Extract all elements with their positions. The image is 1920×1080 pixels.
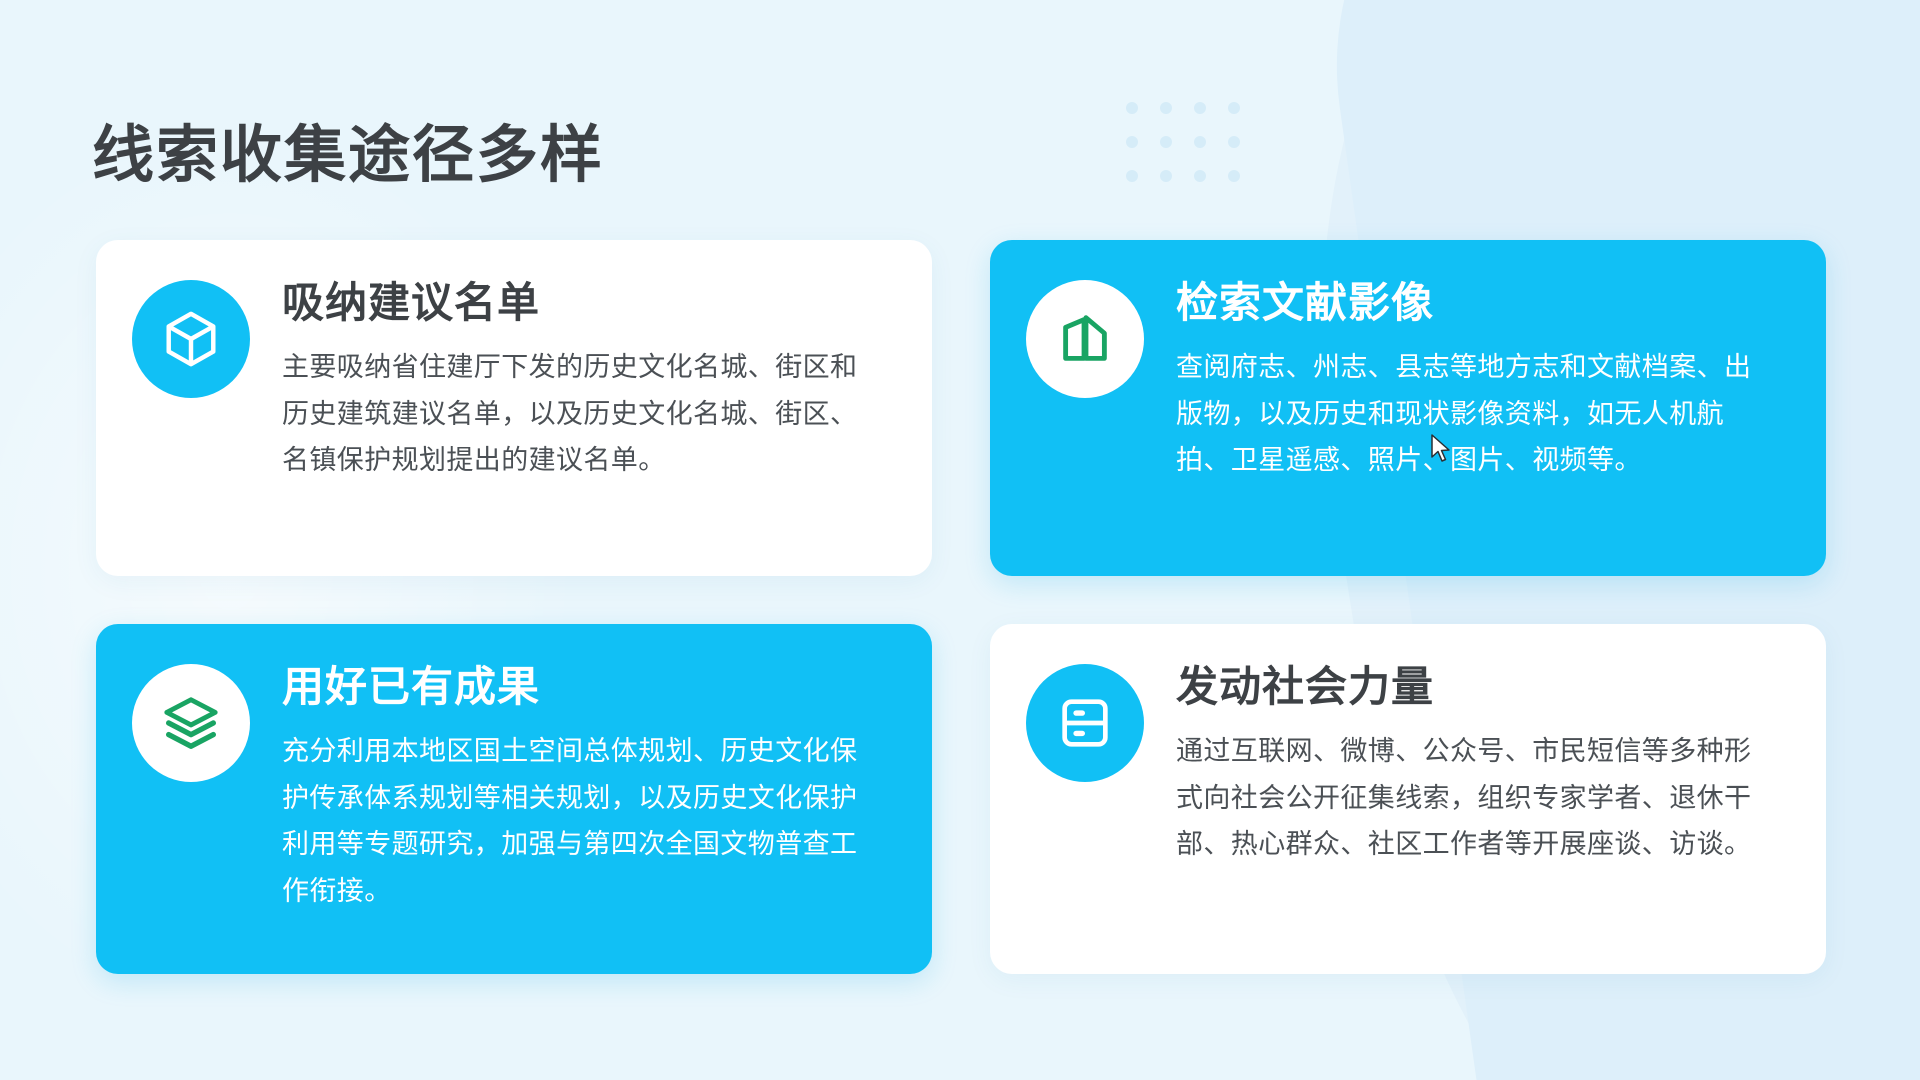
dot <box>1126 170 1138 182</box>
card-body: 充分利用本地区国土空间总体规划、历史文化保护传承体系规划等相关规划，以及历史文化… <box>282 728 882 914</box>
dot <box>1160 170 1172 182</box>
card-title: 吸纳建议名单 <box>282 280 882 326</box>
card-absorb-recommended-list[interactable]: 吸纳建议名单 主要吸纳省住建厅下发的历史文化名城、街区和历史建筑建议名单，以及历… <box>96 240 932 576</box>
dot <box>1160 136 1172 148</box>
page-title: 线索收集途径多样 <box>92 120 604 191</box>
dot <box>1228 136 1240 148</box>
cube-icon <box>132 280 250 398</box>
server-icon <box>1026 664 1144 782</box>
card-search-literature-imagery[interactable]: 检索文献影像 查阅府志、州志、县志等地方志和文献档案、出版物，以及历史和现状影像… <box>990 240 1826 576</box>
card-mobilize-social-forces[interactable]: 发动社会力量 通过互联网、微博、公众号、市民短信等多种形式向社会公开征集线索，组… <box>990 624 1826 974</box>
card-title: 检索文献影像 <box>1176 280 1776 326</box>
card-body: 通过互联网、微博、公众号、市民短信等多种形式向社会公开征集线索，组织专家学者、退… <box>1176 728 1776 867</box>
dot <box>1126 102 1138 114</box>
card-body: 主要吸纳省住建厅下发的历史文化名城、街区和历史建筑建议名单，以及历史文化名城、街… <box>282 344 882 483</box>
dot <box>1194 136 1206 148</box>
card-grid: 吸纳建议名单 主要吸纳省住建厅下发的历史文化名城、街区和历史建筑建议名单，以及历… <box>96 240 1836 974</box>
card-text: 吸纳建议名单 主要吸纳省住建厅下发的历史文化名城、街区和历史建筑建议名单，以及历… <box>282 276 882 484</box>
dot <box>1194 102 1206 114</box>
card-text: 检索文献影像 查阅府志、州志、县志等地方志和文献档案、出版物，以及历史和现状影像… <box>1176 276 1776 484</box>
card-text: 用好已有成果 充分利用本地区国土空间总体规划、历史文化保护传承体系规划等相关规划… <box>282 660 882 914</box>
dot <box>1194 170 1206 182</box>
card-use-existing-results[interactable]: 用好已有成果 充分利用本地区国土空间总体规划、历史文化保护传承体系规划等相关规划… <box>96 624 932 974</box>
dot <box>1160 102 1172 114</box>
slide-canvas: 线索收集途径多样 吸纳建议名单 主要吸纳省住建厅下发的历史文化名城、街区和历史建… <box>0 0 1920 1080</box>
card-text: 发动社会力量 通过互联网、微博、公众号、市民短信等多种形式向社会公开征集线索，组… <box>1176 660 1776 868</box>
layers-icon <box>132 664 250 782</box>
dot <box>1126 136 1138 148</box>
dot-grid-decoration <box>1126 102 1240 182</box>
card-title: 发动社会力量 <box>1176 664 1776 710</box>
buildings-icon <box>1026 280 1144 398</box>
dot <box>1228 170 1240 182</box>
dot <box>1228 102 1240 114</box>
card-title: 用好已有成果 <box>282 664 882 710</box>
card-body: 查阅府志、州志、县志等地方志和文献档案、出版物，以及历史和现状影像资料，如无人机… <box>1176 344 1776 483</box>
